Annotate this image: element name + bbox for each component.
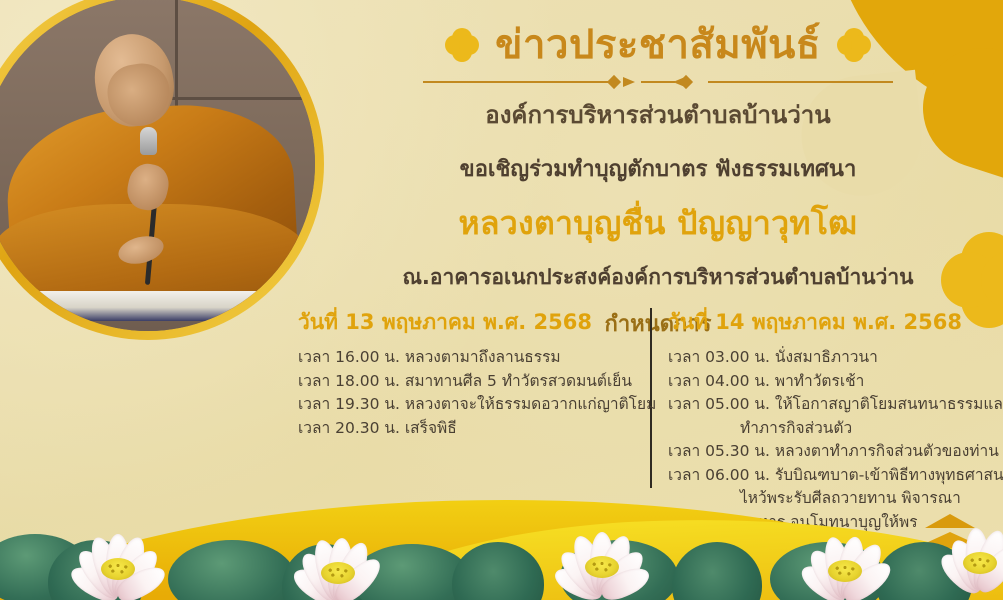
- schedule-line: เวลา 04.00 น. พาทำวัตรเช้า: [668, 370, 988, 394]
- monk-portrait-photo: [0, 0, 315, 331]
- day2-heading: วันที่ 14 พฤษภาคม พ.ศ. 2568: [668, 306, 988, 339]
- monk-name: หลวงตาบุญชื่น ปัญญาวุทโฒ: [338, 198, 978, 249]
- page-title: ข่าวประชาสัมพันธ์: [495, 22, 821, 68]
- poster-header: ข่าวประชาสัมพันธ์ องค์การบริหารส่วนตำบลบ…: [338, 22, 978, 341]
- schedule-line: เวลา 18.00 น. สมาทานศีล 5 ทำวัตรสวดมนต์เ…: [298, 370, 628, 394]
- lotus-flower-icon: [542, 508, 662, 594]
- lotus-flower-icon: [930, 518, 1003, 590]
- announcement-poster: ข่าวประชาสัมพันธ์ องค์การบริหารส่วนตำบลบ…: [0, 0, 1003, 600]
- schedule-line: ทำภารกิจส่วนตัว: [668, 417, 988, 441]
- invitation-text: ขอเชิญร่วมทำบุญตักบาตร ฟังธรรมเทศนา: [338, 151, 978, 186]
- ornamental-divider: [423, 75, 893, 89]
- title-row: ข่าวประชาสัมพันธ์: [338, 22, 978, 68]
- day1-heading: วันที่ 13 พฤษภาคม พ.ศ. 2568: [298, 306, 628, 339]
- schedule-line: เวลา 03.00 น. นั่งสมาธิภาวนา: [668, 346, 988, 370]
- schedule-line: เวลา 05.00 น. ให้โอกาสญาติโยมสนทนาธรรมแล…: [668, 393, 988, 417]
- lotus-flower-icon: [60, 514, 176, 596]
- venue-text: ณ.อาคารอเนกประสงค์องค์การบริหารส่วนตำบลบ…: [338, 261, 978, 294]
- monk-photo-ring: [0, 0, 324, 340]
- schedule-line: เวลา 05.30 น. หลวงตาทำภารกิจส่วนตัวของท่…: [668, 440, 988, 464]
- schedule-line: เวลา 16.00 น. หลวงตามาถึงลานธรรม: [298, 346, 628, 370]
- quatrefoil-ornament-icon-left: [445, 28, 479, 62]
- organization-name: องค์การบริหารส่วนตำบลบ้านว่าน: [338, 95, 978, 134]
- quatrefoil-ornament-icon-right: [837, 28, 871, 62]
- bottom-lotus-band: [0, 470, 1003, 600]
- lotus-flower-icon: [790, 520, 900, 598]
- schedule-line: เวลา 19.30 น. หลวงตาจะให้ธรรมดอวากแก่ญาต…: [298, 393, 628, 417]
- schedule-line: เวลา 20.30 น. เสร็จพิธี: [298, 417, 628, 441]
- lotus-flower-icon: [282, 520, 394, 600]
